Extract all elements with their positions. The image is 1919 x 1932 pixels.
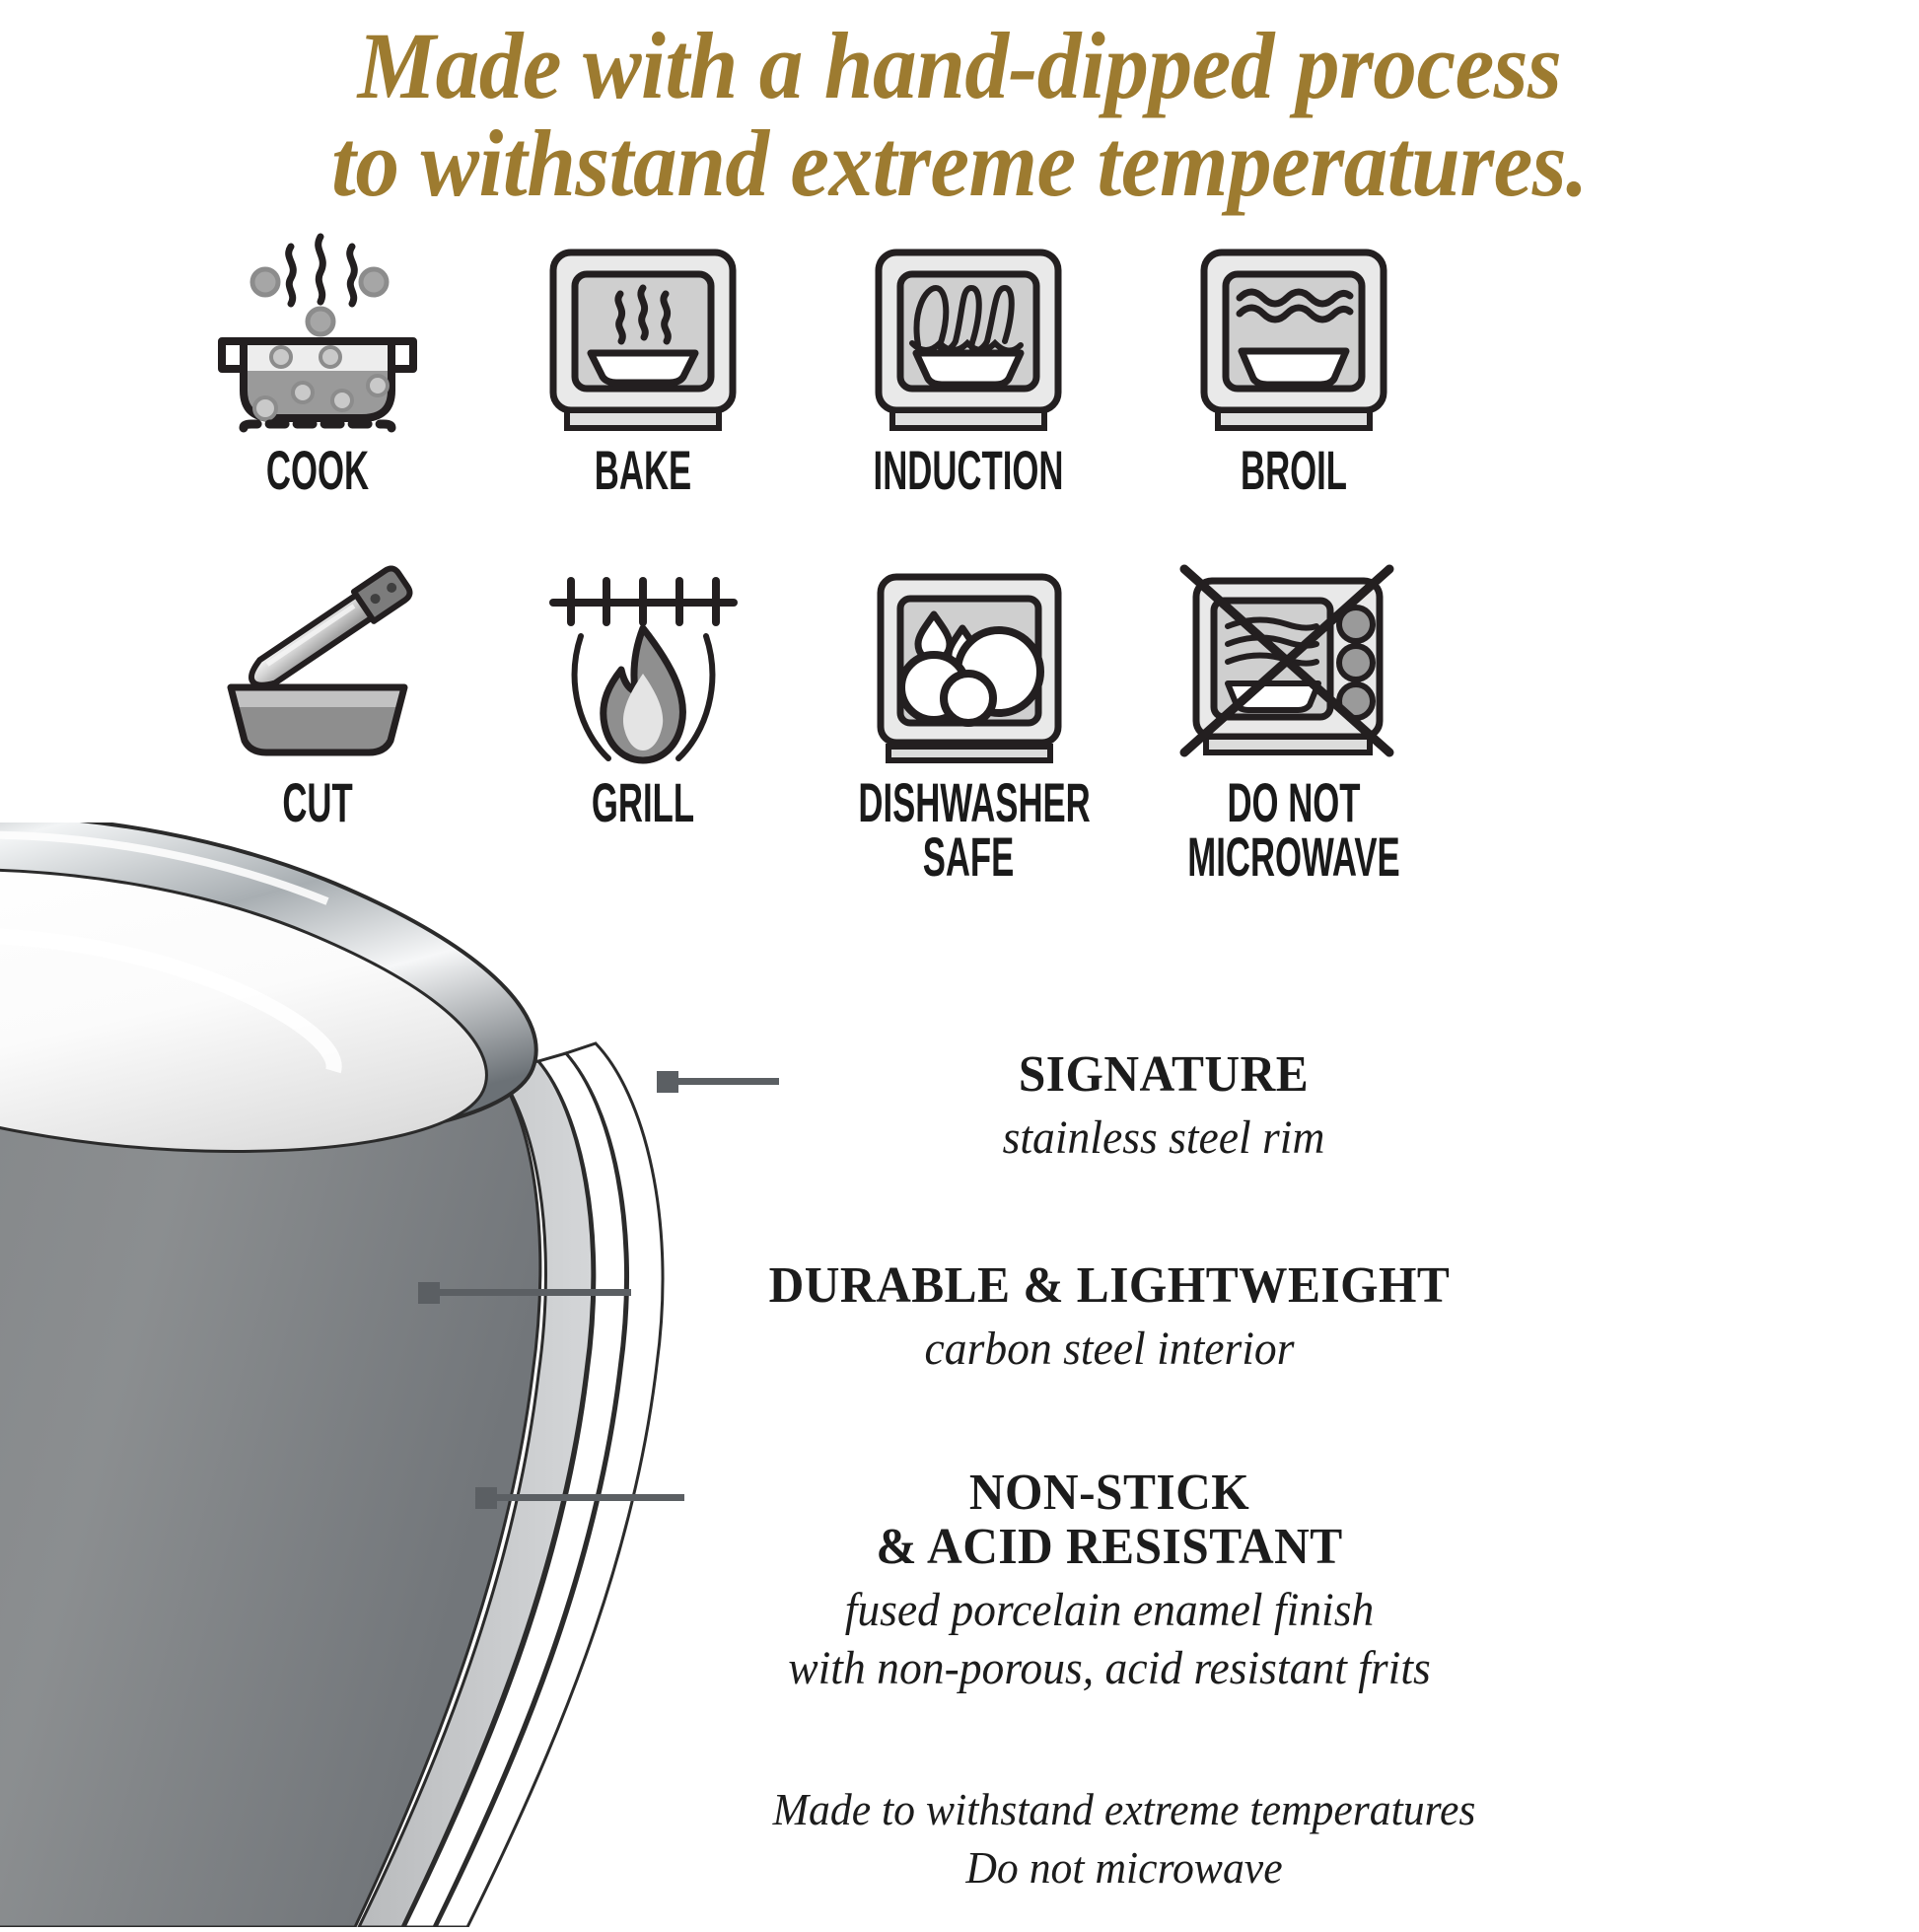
headline-line-1: Made with a hand-dipped process: [358, 13, 1562, 118]
icon-label-induction: INDUCTION: [858, 444, 1078, 498]
icon-cell-dishwasher-safe: DISHWASHER SAFE: [791, 561, 1146, 885]
icon-cell-bake: BAKE: [465, 229, 820, 498]
callout-title-nonstick: NON-STICK & ACID RESISTANT: [665, 1466, 1555, 1574]
callout-signature: SIGNATURE stainless steel rim: [809, 1047, 1519, 1168]
cook-icon: [140, 229, 495, 436]
page-title: Made with a hand-dipped process to withs…: [67, 18, 1852, 213]
leader-marker-signature: [657, 1071, 678, 1093]
icon-label-broil: BROIL: [1183, 444, 1403, 498]
callout-subtitle-nonstick: fused porcelain enamel finish with non-p…: [665, 1582, 1555, 1697]
callout-subtitle-durable: carbon steel interior: [665, 1321, 1555, 1379]
icon-label-cook: COOK: [207, 444, 427, 498]
cut-icon: [140, 561, 495, 768]
icon-cell-induction: INDUCTION: [791, 229, 1146, 498]
icon-cell-cut: CUT: [140, 561, 495, 830]
callout-nonstick: NON-STICK & ACID RESISTANT fused porcela…: [641, 1466, 1578, 1697]
footnote-text: Made to withstand extreme temperatures D…: [581, 1781, 1668, 1897]
callout-title-durable: DURABLE & LIGHTWEIGHT: [665, 1258, 1555, 1313]
icon-label-do-not-microwave: DO NOT MICROWAVE: [1183, 776, 1403, 885]
icon-label-bake: BAKE: [533, 444, 752, 498]
icon-cell-broil: BROIL: [1116, 229, 1471, 498]
induction-icon: [791, 229, 1146, 436]
callout-durable: DURABLE & LIGHTWEIGHT carbon steel inter…: [641, 1258, 1578, 1379]
broil-icon: [1116, 229, 1471, 436]
icon-cell-do-not-microwave: DO NOT MICROWAVE: [1116, 561, 1471, 885]
headline-line-2: to withstand extreme temperatures.: [67, 115, 1852, 213]
callout-title-signature: SIGNATURE: [826, 1047, 1501, 1102]
leader-marker-durable: [418, 1282, 440, 1304]
icon-cell-cook: COOK: [140, 229, 495, 498]
icon-label-dishwasher-safe: DISHWASHER SAFE: [858, 776, 1078, 885]
infographic-canvas: Made with a hand-dipped process to withs…: [0, 0, 1919, 1919]
grill-icon: [465, 561, 820, 768]
leader-line-signature: [676, 1078, 779, 1085]
callout-subtitle-signature: stainless steel rim: [826, 1109, 1501, 1168]
do-not-microwave-icon: [1116, 561, 1471, 768]
icon-cell-grill: GRILL: [465, 561, 820, 830]
dishwasher-safe-icon: [791, 561, 1146, 768]
leader-line-durable: [438, 1289, 631, 1296]
leader-marker-nonstick: [475, 1487, 497, 1509]
bake-icon: [465, 229, 820, 436]
